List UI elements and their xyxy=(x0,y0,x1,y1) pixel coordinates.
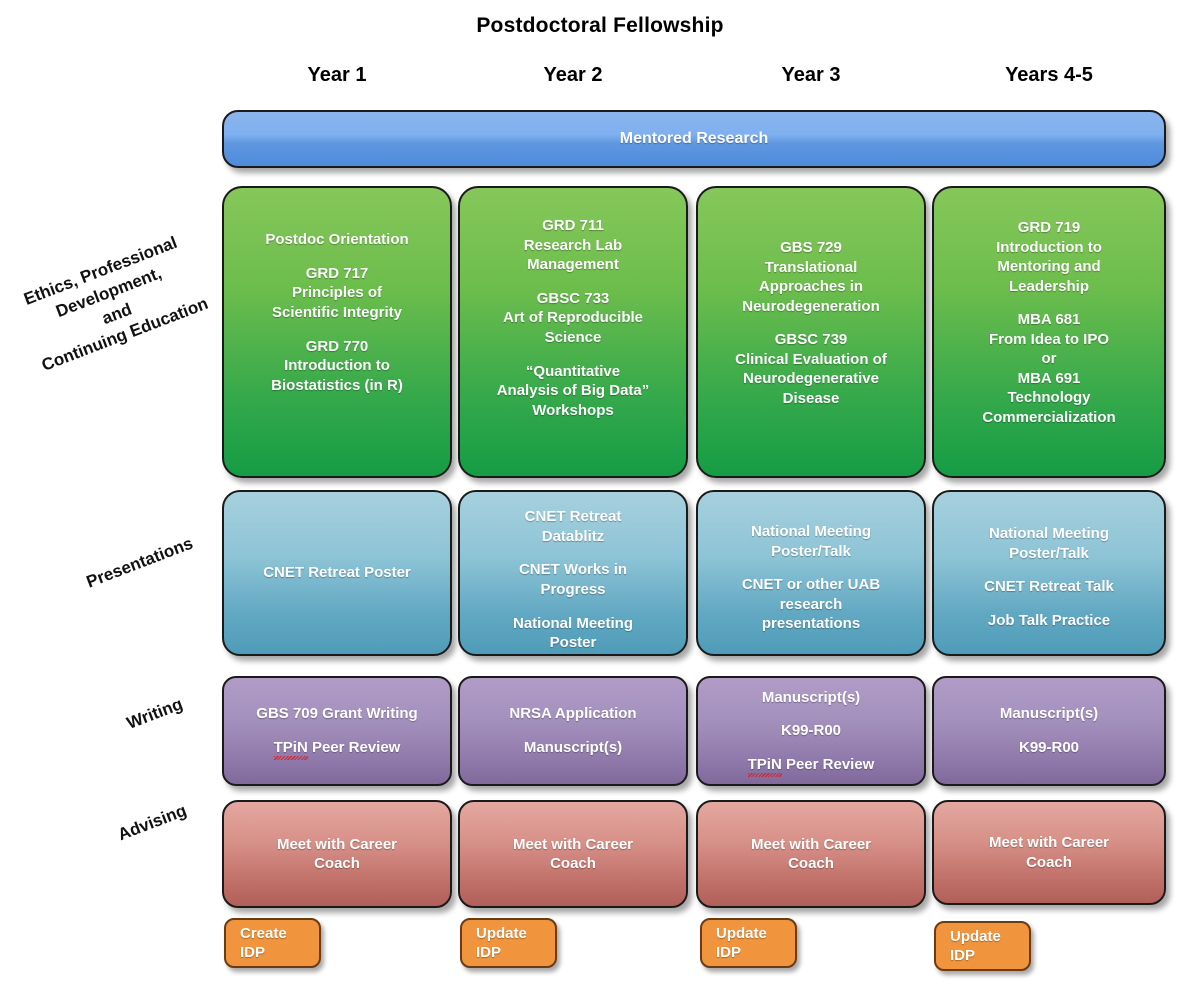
cell-text: CNET RetreatDatablitzCNET Works inProgre… xyxy=(468,507,678,653)
page-title: Postdoctoral Fellowship xyxy=(0,14,1200,38)
year-header-2: Year 2 xyxy=(458,64,688,87)
row-label-ethics: Ethics, Professional Development, and Co… xyxy=(0,216,246,391)
cell-text: Meet with CareerCoach xyxy=(942,833,1156,872)
mentored-research-label: Mentored Research xyxy=(232,129,1156,150)
cell-text: Postdoc OrientationGRD 717Principles ofS… xyxy=(232,230,442,395)
cell-presentations-year3[interactable]: National MeetingPoster/TalkCNET or other… xyxy=(696,490,926,656)
cell-text: GRD 711Research LabManagementGBSC 733Art… xyxy=(468,216,678,420)
cell-text: National MeetingPoster/TalkCNET or other… xyxy=(706,522,916,634)
cell-text: NRSA ApplicationManuscript(s) xyxy=(468,704,678,757)
row-label-presentations: Presentations xyxy=(57,522,224,604)
cell-text: Meet with CareerCoach xyxy=(232,835,442,874)
idp-label: UpdateIDP xyxy=(950,927,1021,966)
cell-presentations-year4-5[interactable]: National MeetingPoster/TalkCNET Retreat … xyxy=(932,490,1166,656)
diagram-canvas: Postdoctoral Fellowship Year 1 Year 2 Ye… xyxy=(0,0,1200,1001)
cell-text: GRD 719Introduction toMentoring andLeade… xyxy=(942,218,1156,427)
cell-text: Meet with CareerCoach xyxy=(468,835,678,874)
cell-ethics-year2[interactable]: GRD 711Research LabManagementGBSC 733Art… xyxy=(458,186,688,478)
idp-button-year3[interactable]: UpdateIDP xyxy=(700,918,797,968)
idp-button-year4-5[interactable]: UpdateIDP xyxy=(934,921,1031,971)
cell-text: Meet with CareerCoach xyxy=(706,835,916,874)
cell-advising-year1[interactable]: Meet with CareerCoach xyxy=(222,800,452,908)
cell-text: GBS 729TranslationalApproaches inNeurode… xyxy=(706,238,916,408)
idp-label: CreateIDP xyxy=(240,924,311,963)
idp-label: UpdateIDP xyxy=(476,924,547,963)
cell-ethics-year4-5[interactable]: GRD 719Introduction toMentoring andLeade… xyxy=(932,186,1166,478)
cell-ethics-year1[interactable]: Postdoc OrientationGRD 717Principles ofS… xyxy=(222,186,452,478)
year-header-1: Year 1 xyxy=(222,64,452,87)
cell-text: CNET Retreat Poster xyxy=(232,563,442,583)
cell-writing-year2[interactable]: NRSA ApplicationManuscript(s) xyxy=(458,676,688,786)
cell-writing-year1[interactable]: GBS 709 Grant WritingTPiN Peer Review xyxy=(222,676,452,786)
cell-advising-year4-5[interactable]: Meet with CareerCoach xyxy=(932,800,1166,905)
cell-text: Manuscript(s)K99-R00TPiN Peer Review xyxy=(706,688,916,775)
cell-ethics-year3[interactable]: GBS 729TranslationalApproaches inNeurode… xyxy=(696,186,926,478)
idp-button-year2[interactable]: UpdateIDP xyxy=(460,918,557,968)
cell-advising-year2[interactable]: Meet with CareerCoach xyxy=(458,800,688,908)
cell-advising-year3[interactable]: Meet with CareerCoach xyxy=(696,800,926,908)
cell-text: National MeetingPoster/TalkCNET Retreat … xyxy=(942,524,1156,631)
cell-writing-year3[interactable]: Manuscript(s)K99-R00TPiN Peer Review xyxy=(696,676,926,786)
cell-presentations-year1[interactable]: CNET Retreat Poster xyxy=(222,490,452,656)
year-header-3: Year 3 xyxy=(696,64,926,87)
year-header-4: Years 4-5 xyxy=(932,64,1166,87)
row-label-writing: Writing xyxy=(86,679,225,750)
cell-presentations-year2[interactable]: CNET RetreatDatablitzCNET Works inProgre… xyxy=(458,490,688,656)
row-label-advising: Advising xyxy=(81,787,225,860)
cell-writing-year4-5[interactable]: Manuscript(s)K99-R00 xyxy=(932,676,1166,786)
cell-text: Manuscript(s)K99-R00 xyxy=(942,704,1156,757)
cell-text: GBS 709 Grant WritingTPiN Peer Review xyxy=(232,704,442,757)
idp-button-year1[interactable]: CreateIDP xyxy=(224,918,321,968)
mentored-research-banner[interactable]: Mentored Research xyxy=(222,110,1166,168)
idp-label: UpdateIDP xyxy=(716,924,787,963)
